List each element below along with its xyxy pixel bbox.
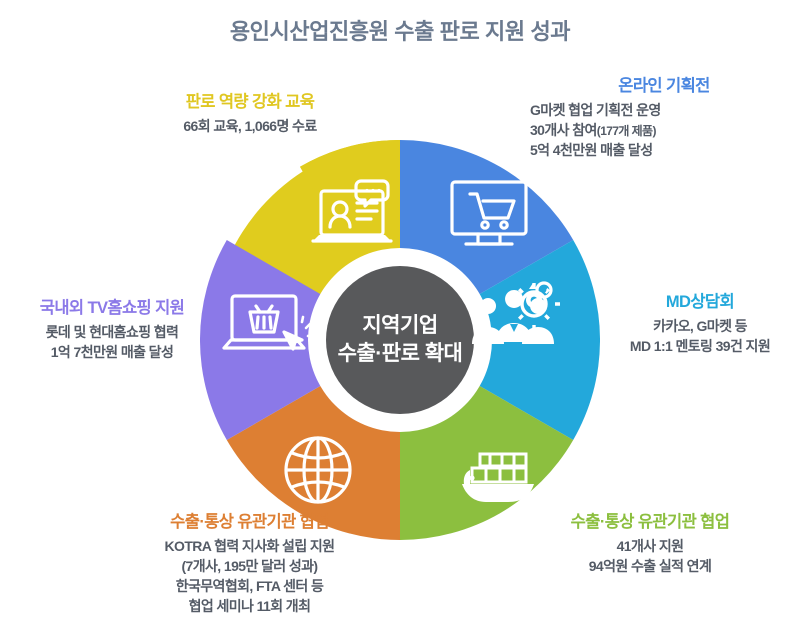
callout-education-title: 판로 역량 강화 교육 xyxy=(120,88,380,112)
callout-kotra-line-3: 한국무역협회, FTA 센터 등 xyxy=(92,577,407,597)
globe-icon xyxy=(286,438,350,502)
callout-export[interactable]: 수출·통상 유관기관 협업 41개사 지원 94억원 수출 실적 연계 xyxy=(505,508,795,577)
callout-tv-title: 국내외 TV홈쇼핑 지원 xyxy=(6,294,218,318)
callout-education-line-1: 66회 교육, 1,066명 수료 xyxy=(120,117,380,137)
callout-online[interactable]: 온라인 기획전 G마켓 협업 기획전 운영 30개사 참여(177개 제품) 5… xyxy=(530,72,798,161)
page-title: 용인시산업진흥원 수출 판로 지원 성과 xyxy=(0,14,800,46)
callout-online-line-2-main: 30개사 참여 xyxy=(530,122,597,138)
hub-circle[interactable] xyxy=(326,266,474,414)
callout-md-title: MD상담회 xyxy=(600,288,800,312)
callout-md-line-2: MD 1:1 멘토링 39건 지원 xyxy=(600,337,800,357)
cycle-diagram xyxy=(200,140,600,540)
callout-online-line-1: G마켓 협업 기획전 운영 xyxy=(530,101,798,121)
callout-kotra-line-1: KOTRA 협력 지사화 설립 지원 xyxy=(92,537,407,557)
callout-export-title: 수출·통상 유관기관 협업 xyxy=(505,508,795,532)
callout-tv-line-2: 1억 7천만원 매출 달성 xyxy=(6,343,218,363)
callout-online-line-2: 30개사 참여(177개 제품) xyxy=(530,121,798,141)
callout-export-line-1: 41개사 지원 xyxy=(505,537,795,557)
callout-export-line-2: 94억원 수출 실적 연계 xyxy=(505,557,795,577)
callout-education[interactable]: 판로 역량 강화 교육 66회 교육, 1,066명 수료 xyxy=(120,88,380,137)
callout-kotra[interactable]: 수출·통상 유관기관 협업 KOTRA 협력 지사화 설립 지원 (7개사, 1… xyxy=(92,508,407,617)
callout-online-line-2-detail: (177개 제품) xyxy=(597,124,656,138)
callout-kotra-line-4: 협업 세미나 11회 개최 xyxy=(92,597,407,617)
callout-kotra-line-2: (7개사, 195만 달러 성과) xyxy=(92,557,407,577)
callout-online-line-3: 5억 4천만원 매출 달성 xyxy=(530,141,798,161)
callout-tv[interactable]: 국내외 TV홈쇼핑 지원 롯데 및 현대홈쇼핑 협력 1억 7천만원 매출 달성 xyxy=(6,294,218,363)
callout-tv-line-1: 롯데 및 현대홈쇼핑 협력 xyxy=(6,323,218,343)
callout-kotra-title: 수출·통상 유관기관 협업 xyxy=(92,508,407,532)
callout-md[interactable]: MD상담회 카카오, G마켓 등 MD 1:1 멘토링 39건 지원 xyxy=(600,288,800,357)
callout-online-title: 온라인 기획전 xyxy=(530,72,798,96)
callout-md-line-1: 카카오, G마켓 등 xyxy=(600,317,800,337)
